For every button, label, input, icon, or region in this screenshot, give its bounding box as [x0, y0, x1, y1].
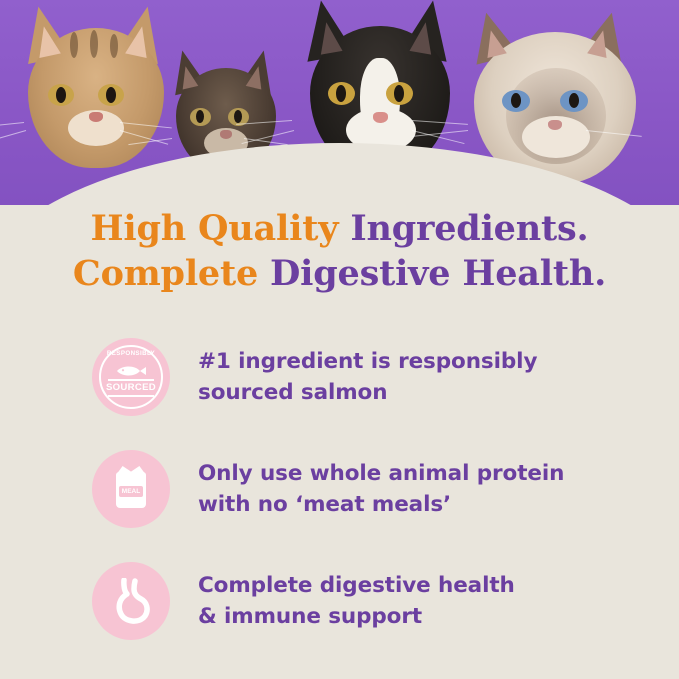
page-title: High Quality Ingredients. Complete Diges…	[0, 206, 679, 296]
cat-pupil-right	[394, 85, 404, 102]
feature-text: Complete digestive health & immune suppo…	[198, 570, 515, 632]
stomach-glyph	[110, 578, 154, 626]
feature-text-line-2: with no ‘meat meals’	[198, 489, 564, 520]
cat-stripe	[90, 30, 98, 58]
feature-list: RESPONSIBLY SOURCED #1 ingredient is res…	[92, 338, 632, 674]
stomach-digestion-icon	[92, 562, 170, 640]
fish-icon	[115, 365, 147, 377]
stamp-top-text: RESPONSIBLY	[92, 350, 170, 357]
list-item: MEAL Only use whole animal protein with …	[92, 450, 632, 528]
cat-pupil-right	[234, 110, 242, 123]
responsibly-sourced-stamp-icon: RESPONSIBLY SOURCED	[92, 338, 170, 416]
feature-text: Only use whole animal protein with no ‘m…	[198, 458, 564, 520]
cat-pupil-left	[336, 85, 346, 102]
headline-line2-highlight: Complete	[73, 253, 270, 294]
feature-text-line-1: Complete digestive health	[198, 570, 515, 601]
list-item: Complete digestive health & immune suppo…	[92, 562, 632, 640]
brown-tabby-cat	[16, 6, 176, 176]
cat-pupil-right	[569, 93, 579, 108]
cat-pupil-left	[511, 93, 521, 108]
hero-photo-band	[0, 0, 679, 205]
stamp-divider-top	[108, 379, 154, 381]
feature-text-line-2: sourced salmon	[198, 377, 537, 408]
headline-line2-rest: Digestive Health.	[270, 253, 606, 294]
headline-line1-highlight: High Quality	[91, 208, 351, 249]
feature-text-line-1: Only use whole animal protein	[198, 458, 564, 489]
cat-stripe	[70, 32, 78, 58]
cat-nose	[220, 130, 232, 139]
product-infographic: High Quality Ingredients. Complete Diges…	[0, 0, 679, 679]
feature-text-line-2: & immune support	[198, 601, 515, 632]
bag-label-text: MEAL	[119, 486, 143, 497]
headline-line-1: High Quality Ingredients.	[0, 206, 679, 251]
cat-pupil-right	[106, 87, 116, 103]
cat-pupil-left	[56, 87, 66, 103]
meal-bag-icon: MEAL	[92, 450, 170, 528]
feature-text: #1 ingredient is responsibly sourced sal…	[198, 346, 537, 408]
feature-text-line-1: #1 ingredient is responsibly	[198, 346, 537, 377]
cat-pupil-left	[196, 110, 204, 123]
headline-line-2: Complete Digestive Health.	[0, 251, 679, 296]
cat-nose	[89, 112, 103, 122]
cat-stripe	[110, 34, 118, 58]
list-item: RESPONSIBLY SOURCED #1 ingredient is res…	[92, 338, 632, 416]
stamp-bottom-text: SOURCED	[92, 382, 170, 393]
cat-nose	[373, 112, 388, 123]
stamp-divider-bottom	[108, 395, 154, 397]
headline-line1-rest: Ingredients.	[350, 208, 588, 249]
cat-nose	[548, 120, 562, 130]
